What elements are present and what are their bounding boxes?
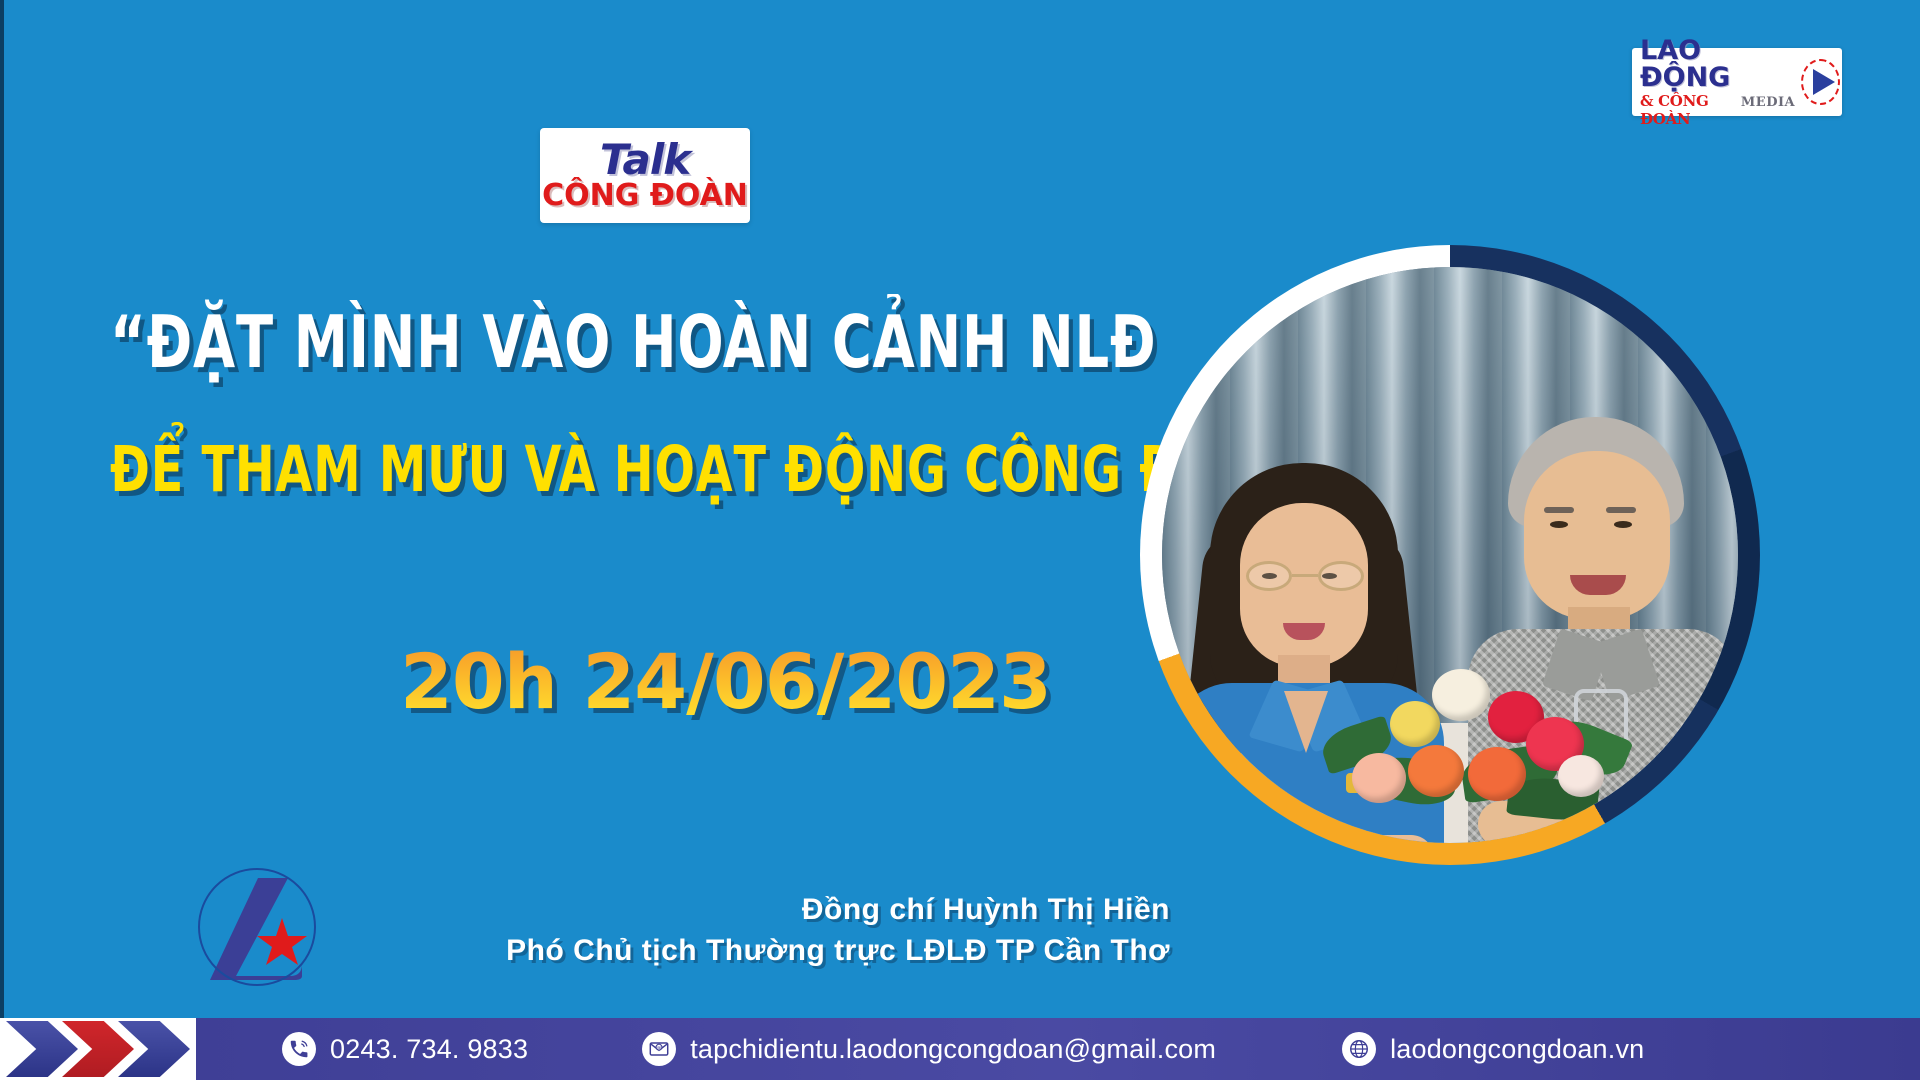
guest-credit: Đồng chí Huỳnh Thị Hiền Phó Chủ tịch Thư… xyxy=(390,890,1170,972)
phone-icon xyxy=(282,1032,316,1066)
program-logo-talk: Talk xyxy=(600,140,690,180)
globe-icon xyxy=(1342,1032,1376,1066)
program-logo: Talk CÔNG ĐOÀN xyxy=(540,128,750,223)
photo-content xyxy=(1162,267,1738,843)
union-logo-circle xyxy=(198,868,316,986)
brand-logo-laodong: LAO ĐỘNG xyxy=(1640,37,1795,91)
brand-logo-texts: LAO ĐỘNG & CÔNG ĐOÀN MEDIA xyxy=(1632,37,1795,128)
contact-email-text: tapchidientu.laodongcongdoan@gmail.com xyxy=(690,1034,1216,1065)
contact-phone[interactable]: 0243. 734. 9833 xyxy=(282,1032,528,1066)
contact-bar: 0243. 734. 9833 @ tapchidientu.laodongco… xyxy=(196,1018,1920,1080)
brand-logo-congdoan: & CÔNG ĐOÀN xyxy=(1640,92,1738,128)
play-triangle-icon xyxy=(1799,57,1842,107)
union-logo xyxy=(190,868,320,988)
footer-chevrons xyxy=(0,1018,196,1080)
contact-phone-text: 0243. 734. 9833 xyxy=(330,1034,528,1065)
brand-logo: LAO ĐỘNG & CÔNG ĐOÀN MEDIA xyxy=(1632,48,1842,116)
photo-flower-bouquet xyxy=(1312,629,1652,819)
contact-email[interactable]: @ tapchidientu.laodongcongdoan@gmail.com xyxy=(642,1032,1216,1066)
airtime-text: 20h 24/06/2023 xyxy=(400,640,1051,724)
program-logo-congdoan: CÔNG ĐOÀN xyxy=(542,180,748,212)
guest-role: Phó Chủ tịch Thường trực LĐLĐ TP Cần Thơ xyxy=(390,930,1170,972)
headline: “ĐẶT MÌNH VÀO HOÀN CẢNH NLĐ ĐỂ THAM MƯU … xyxy=(110,300,1170,508)
left-edge-border xyxy=(0,0,4,1018)
poster-canvas: Talk CÔNG ĐOÀN LAO ĐỘNG & CÔNG ĐOÀN MEDI… xyxy=(0,0,1920,1080)
play-dashed-circle-icon xyxy=(1801,59,1840,105)
guest-photo xyxy=(1140,245,1760,865)
brand-logo-media: MEDIA xyxy=(1741,95,1795,110)
guest-name: Đồng chí Huỳnh Thị Hiền xyxy=(390,890,1170,930)
headline-line-1: “ĐẶT MÌNH VÀO HOÀN CẢNH NLĐ xyxy=(110,300,1000,384)
svg-text:@: @ xyxy=(657,1045,662,1051)
brand-logo-subline: & CÔNG ĐOÀN MEDIA xyxy=(1640,92,1795,128)
email-icon: @ xyxy=(642,1032,676,1066)
footer-bar: 0243. 734. 9833 @ tapchidientu.laodongco… xyxy=(0,1018,1920,1080)
contact-website[interactable]: laodongcongdoan.vn xyxy=(1342,1032,1644,1066)
headline-line-2: ĐỂ THAM MƯU VÀ HOẠT ĐỘNG CÔNG ĐOÀN” xyxy=(110,432,1000,508)
contact-website-text: laodongcongdoan.vn xyxy=(1390,1034,1644,1065)
chevron-1 xyxy=(6,1021,78,1077)
